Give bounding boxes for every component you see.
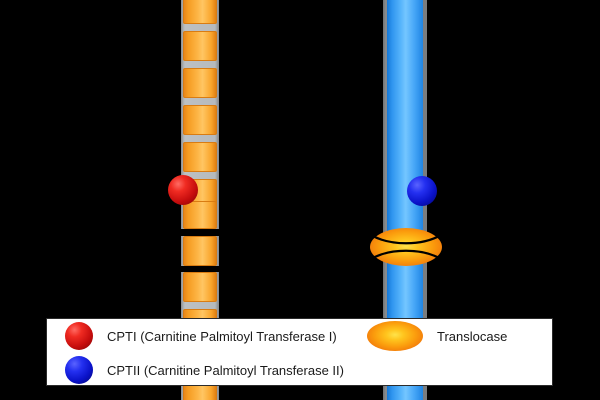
cpt2-sphere bbox=[407, 176, 437, 206]
legend-label-cpt2: CPTII (Carnitine Palmitoyl Transferase I… bbox=[107, 363, 344, 378]
red-sphere-icon bbox=[65, 322, 93, 350]
membrane-segment bbox=[183, 0, 217, 24]
membrane-segment bbox=[183, 68, 217, 98]
blue-sphere-icon bbox=[65, 356, 93, 384]
translocase-arcs-icon bbox=[370, 228, 442, 266]
legend-item-cpt2: CPTII (Carnitine Palmitoyl Transferase I… bbox=[65, 356, 344, 384]
membrane-black-gap bbox=[181, 229, 219, 236]
legend-row: CPTI (Carnitine Palmitoyl Transferase I)… bbox=[47, 319, 552, 353]
diagram-canvas: CPTI (Carnitine Palmitoyl Transferase I)… bbox=[0, 0, 600, 400]
membrane-segment bbox=[183, 142, 217, 172]
membrane-segment bbox=[183, 31, 217, 61]
legend-item-translocase: Translocase bbox=[367, 319, 507, 353]
translocase-shape bbox=[370, 228, 442, 266]
legend-label-cpt1: CPTI (Carnitine Palmitoyl Transferase I) bbox=[107, 329, 337, 344]
legend: CPTI (Carnitine Palmitoyl Transferase I)… bbox=[46, 318, 553, 386]
membrane-segment bbox=[183, 236, 217, 266]
membrane-segment bbox=[183, 272, 217, 302]
legend-row: CPTII (Carnitine Palmitoyl Transferase I… bbox=[47, 353, 552, 387]
membrane-segment bbox=[183, 201, 217, 229]
cpt1-sphere bbox=[168, 175, 198, 205]
membrane-segment bbox=[183, 105, 217, 135]
legend-item-cpt1: CPTI (Carnitine Palmitoyl Transferase I) bbox=[65, 322, 337, 350]
orange-lens-icon bbox=[367, 321, 423, 351]
legend-label-translocase: Translocase bbox=[437, 329, 507, 344]
